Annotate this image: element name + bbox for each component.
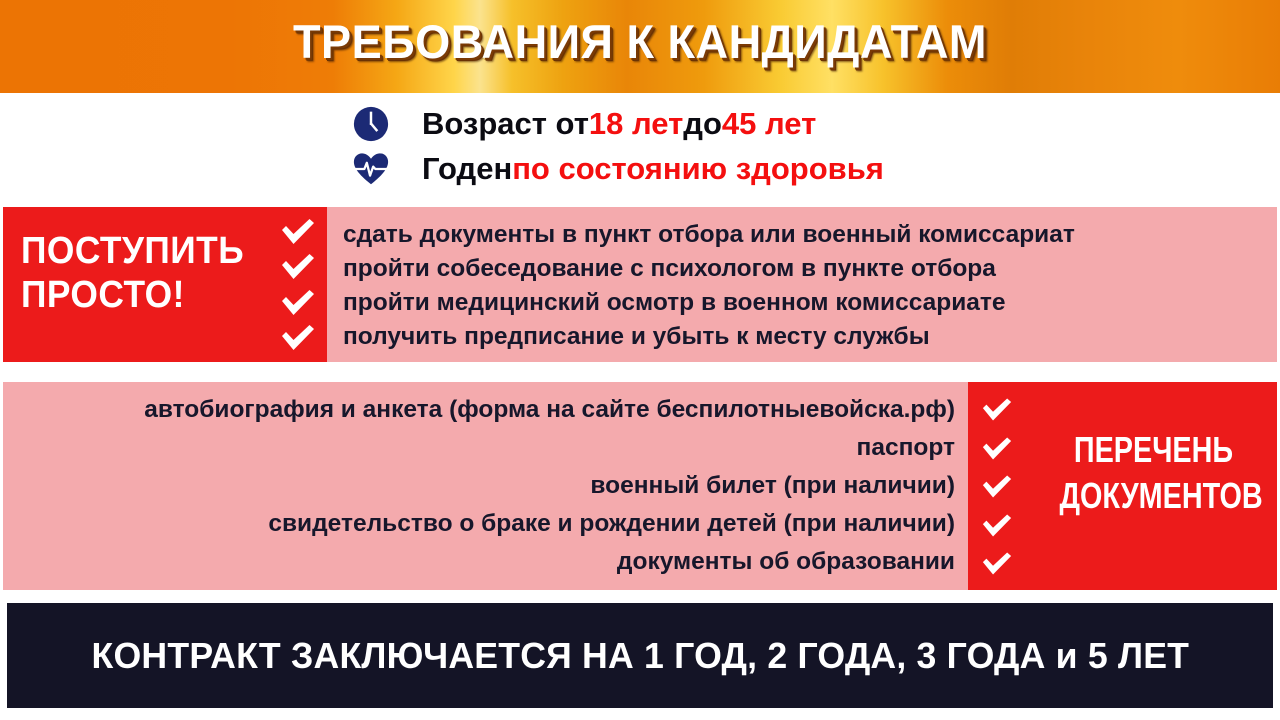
checkmark-icon bbox=[982, 437, 1012, 460]
header-banner: ТРЕБОВАНИЯ К КАНДИДАТАМ bbox=[0, 0, 1280, 93]
easy-enrollment-title-line2: ПРОСТО! bbox=[21, 273, 254, 317]
age-min: 18 лет bbox=[589, 106, 683, 142]
age-max: 45 лет bbox=[722, 106, 816, 142]
list-item: документы об образовании bbox=[13, 543, 955, 581]
requirement-health: Годен по состоянию здоровья bbox=[352, 150, 884, 188]
checkmark-icon bbox=[982, 475, 1012, 498]
documents-red-panel: ПЕРЕЧЕНЬ ДОКУМЕНТОВ bbox=[968, 382, 1277, 590]
easy-enrollment-steps-list: сдать документы в пункт отбора или военн… bbox=[343, 218, 1267, 354]
list-item: получить предписание и убыть к месту слу… bbox=[343, 320, 1267, 354]
easy-enrollment-checkmarks bbox=[281, 219, 315, 350]
documents-checkmarks bbox=[982, 398, 1012, 575]
checkmark-icon bbox=[281, 219, 315, 244]
checkmark-icon bbox=[281, 325, 315, 350]
checkmark-icon bbox=[982, 514, 1012, 537]
list-item: сдать документы в пункт отбора или военн… bbox=[343, 218, 1267, 252]
age-middle: до bbox=[683, 106, 722, 142]
health-highlight: по состоянию здоровья bbox=[512, 151, 884, 187]
documents-list: автобиография и анкета (форма на сайте б… bbox=[13, 391, 955, 581]
easy-enrollment-red-panel: ПОСТУПИТЬ ПРОСТО! bbox=[3, 207, 327, 362]
checkmark-icon bbox=[281, 290, 315, 315]
age-prefix: Возраст от bbox=[422, 106, 589, 142]
documents-section: автобиография и анкета (форма на сайте б… bbox=[3, 382, 1277, 590]
requirement-age: Возраст от 18 лет до 45 лет bbox=[352, 105, 816, 143]
list-item: военный билет (при наличии) bbox=[13, 467, 955, 505]
checkmark-icon bbox=[281, 254, 315, 279]
documents-title-line1: ПЕРЕЧЕНЬ bbox=[1060, 427, 1248, 473]
checkmark-icon bbox=[982, 398, 1012, 421]
easy-enrollment-title: ПОСТУПИТЬ ПРОСТО! bbox=[21, 229, 254, 318]
health-prefix: Годен bbox=[422, 151, 512, 187]
list-item: паспорт bbox=[13, 429, 955, 467]
clock-icon bbox=[352, 105, 390, 143]
list-item: свидетельство о браке и рождении детей (… bbox=[13, 505, 955, 543]
requirements-zone: Возраст от 18 лет до 45 лет Годен по сос… bbox=[0, 100, 1280, 200]
easy-enrollment-title-line1: ПОСТУПИТЬ bbox=[21, 229, 254, 273]
list-item: пройти собеседование с психологом в пунк… bbox=[343, 252, 1267, 286]
contract-footer-text: КОНТРАКТ ЗАКЛЮЧАЕТСЯ НА 1 ГОД, 2 ГОДА, 3… bbox=[91, 635, 1189, 677]
contract-footer-bar: КОНТРАКТ ЗАКЛЮЧАЕТСЯ НА 1 ГОД, 2 ГОДА, 3… bbox=[7, 603, 1273, 708]
easy-enrollment-section: ПОСТУПИТЬ ПРОСТО! сдать документы в пунк… bbox=[3, 207, 1277, 362]
easy-enrollment-steps-panel: сдать документы в пункт отбора или военн… bbox=[327, 207, 1277, 362]
documents-title-line2: ДОКУМЕНТОВ bbox=[1060, 473, 1248, 519]
heart-pulse-icon bbox=[352, 150, 390, 188]
list-item: пройти медицинский осмотр в военном коми… bbox=[343, 286, 1267, 320]
documents-list-panel: автобиография и анкета (форма на сайте б… bbox=[3, 382, 968, 590]
list-item: автобиография и анкета (форма на сайте б… bbox=[13, 391, 955, 429]
checkmark-icon bbox=[982, 552, 1012, 575]
page-title: ТРЕБОВАНИЯ К КАНДИДАТАМ bbox=[26, 14, 1255, 69]
documents-title: ПЕРЕЧЕНЬ ДОКУМЕНТОВ bbox=[1036, 427, 1271, 519]
